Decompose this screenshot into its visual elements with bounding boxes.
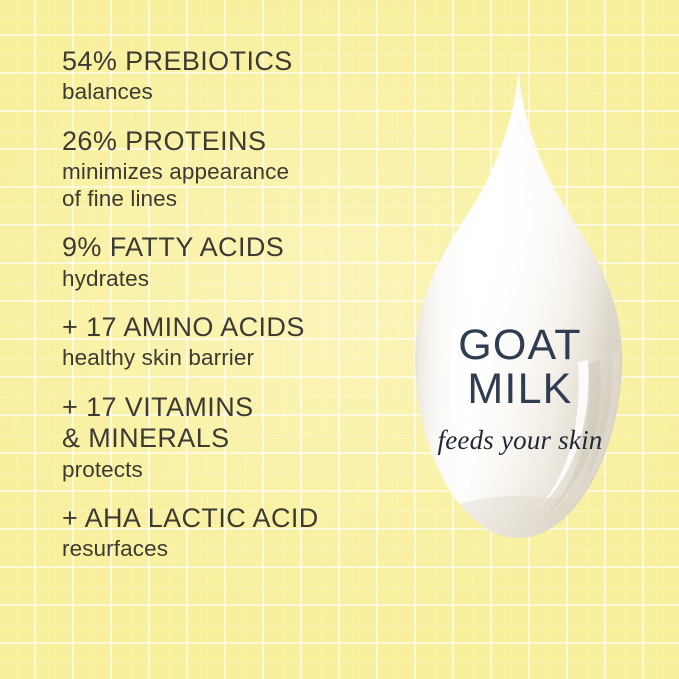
ingredient-item: 54% PREBIOTICS balances — [62, 46, 392, 106]
ingredient-heading: + 17 VITAMINS & MINERALS — [62, 392, 392, 455]
ingredient-item: 9% FATTY ACIDS hydrates — [62, 232, 392, 292]
ingredient-heading: 54% PREBIOTICS — [62, 46, 392, 77]
ingredient-benefit: healthy skin barrier — [62, 345, 392, 372]
ingredient-benefit: protects — [62, 457, 392, 484]
ingredient-item: + 17 VITAMINS & MINERALS protects — [62, 392, 392, 483]
ingredient-heading: 9% FATTY ACIDS — [62, 232, 392, 263]
ingredient-benefit: resurfaces — [62, 536, 392, 563]
ingredient-list: 54% PREBIOTICS balances 26% PROTEINS min… — [62, 46, 392, 563]
ingredient-heading: + 17 AMINO ACIDS — [62, 312, 392, 343]
ingredient-item: + 17 AMINO ACIDS healthy skin barrier — [62, 312, 392, 372]
ingredient-benefit: hydrates — [62, 266, 392, 293]
ingredient-item: 26% PROTEINS minimizes appearance of fin… — [62, 126, 392, 212]
infographic-canvas: 54% PREBIOTICS balances 26% PROTEINS min… — [0, 0, 679, 679]
ingredient-item: + AHA LACTIC ACID resurfaces — [62, 503, 392, 563]
ingredient-heading: 26% PROTEINS — [62, 126, 392, 157]
ingredient-heading: + AHA LACTIC ACID — [62, 503, 392, 534]
ingredient-benefit: minimizes appearance of fine lines — [62, 159, 392, 212]
ingredient-benefit: balances — [62, 79, 392, 106]
milk-droplet-icon — [392, 60, 648, 550]
